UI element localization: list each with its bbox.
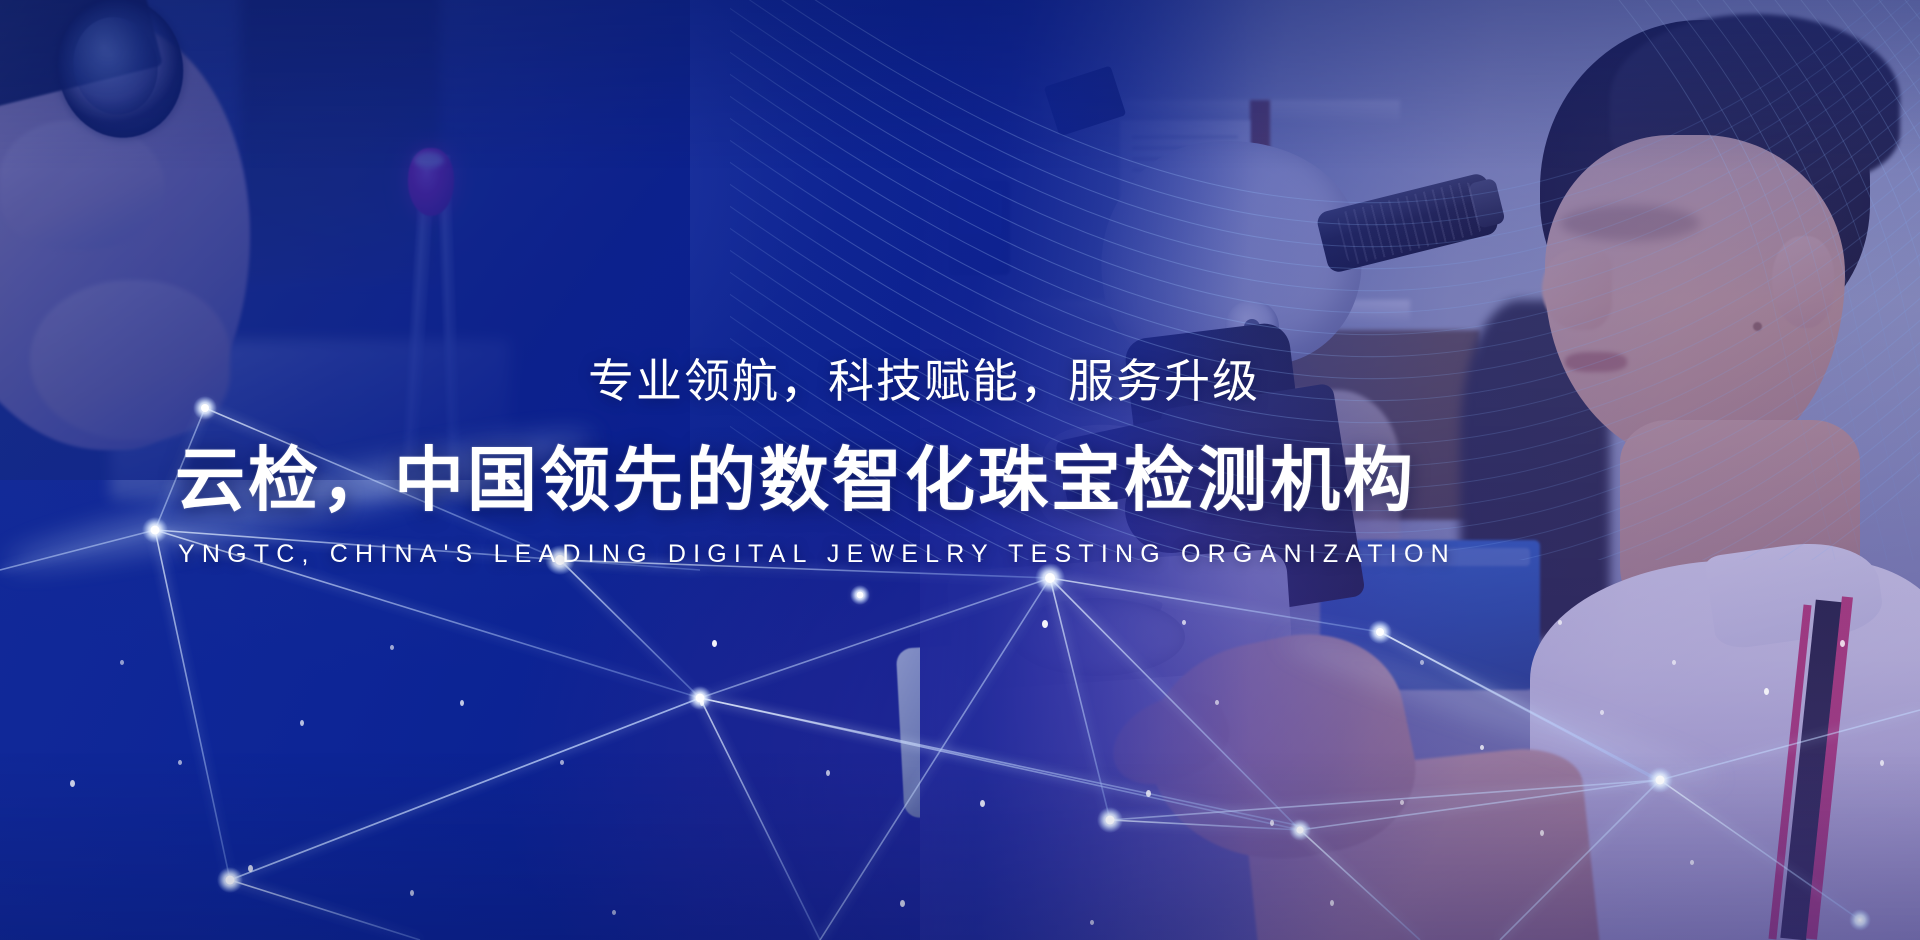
hero-banner: 专业领航，科技赋能，服务升级 云检，中国领先的数智化珠宝检测机构 YNGTC, … bbox=[0, 0, 1920, 940]
network-constellation-graphic bbox=[0, 380, 1920, 940]
